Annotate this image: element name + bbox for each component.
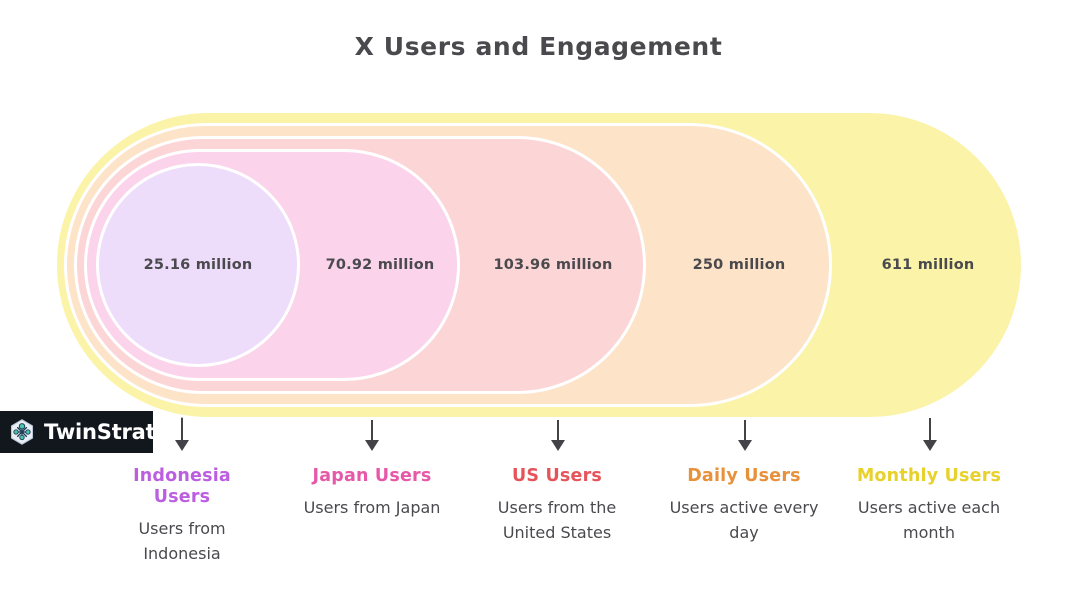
legend-item-indonesia[interactable]: Indonesia Users Users from Indonesia (112, 466, 252, 566)
page-title: X Users and Engagement (0, 32, 1077, 61)
legend-title-monthly: Monthly Users (856, 466, 1002, 487)
nested-pill-chart: 25.16 million 70.92 million 103.96 milli… (0, 110, 1077, 420)
legend-item-us[interactable]: US Users Users from the United States (487, 466, 627, 545)
value-label-indonesia: 25.16 million (96, 110, 300, 420)
arrowhead-japan (365, 440, 379, 451)
legend-title-us: US Users (487, 466, 627, 487)
legend-desc-monthly: Users active each month (856, 495, 1002, 545)
watermark-brand-text: TwinStrata (44, 420, 169, 444)
arrowhead-indonesia (175, 440, 189, 451)
legend-item-daily[interactable]: Daily Users Users active every day (668, 466, 820, 545)
arrowhead-monthly (923, 440, 937, 451)
legend-desc-indonesia: Users from Indonesia (112, 516, 252, 566)
connector-line-monthly (929, 418, 931, 442)
legend-desc-japan: Users from Japan (296, 495, 448, 520)
value-label-monthly: 611 million (832, 110, 1024, 420)
legend-title-daily: Daily Users (668, 466, 820, 487)
legend-title-indonesia: Indonesia Users (112, 466, 252, 508)
arrowhead-daily (738, 440, 752, 451)
legend-title-japan: Japan Users (296, 466, 448, 487)
legend-item-monthly[interactable]: Monthly Users Users active each month (856, 466, 1002, 545)
arrowhead-us (551, 440, 565, 451)
network-hexagon-icon (8, 418, 36, 446)
legend-desc-us: Users from the United States (487, 495, 627, 545)
legend: Indonesia Users Users from Indonesia Jap… (0, 466, 1077, 602)
legend-desc-daily: Users active every day (668, 495, 820, 545)
value-label-us: 103.96 million (460, 110, 646, 420)
value-label-japan: 70.92 million (300, 110, 460, 420)
value-label-daily: 250 million (646, 110, 832, 420)
legend-item-japan[interactable]: Japan Users Users from Japan (296, 466, 448, 520)
